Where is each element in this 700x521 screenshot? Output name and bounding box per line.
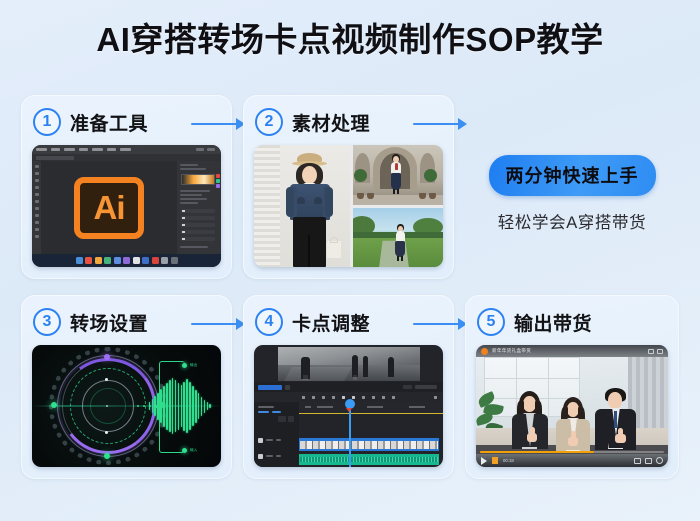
picture-in-picture-icon — [645, 458, 652, 464]
transition-hud-visual: 输出 输入 — [32, 345, 221, 467]
promo-subtitle: 轻松学会A穿搭带货 — [465, 209, 679, 233]
illustrator-toolbar — [32, 161, 41, 254]
illustrator-menubar — [32, 145, 221, 154]
step-label-2: 素材处理 — [292, 109, 370, 136]
fullscreen-icon — [656, 457, 663, 464]
player-right-controls[interactable] — [634, 457, 663, 464]
program-monitor — [278, 347, 420, 381]
step-label-4: 卡点调整 — [292, 309, 370, 336]
settings-icon — [634, 458, 641, 464]
fashion-photo-arch — [353, 145, 443, 205]
share-icon — [648, 349, 654, 354]
illustrator-logo-text: Ai — [94, 191, 125, 224]
illustrator-canvas: Ai — [41, 161, 177, 254]
video-player-preview: 新年年货礼盒带货 — [476, 345, 668, 467]
channel-avatar-icon — [481, 348, 488, 355]
step-card-3-header: 3 转场设置 — [21, 295, 232, 339]
video-timeline-editor — [254, 345, 443, 467]
timeline-app — [254, 345, 443, 467]
playhead[interactable] — [349, 404, 351, 467]
step-card-4-header: 4 卡点调整 — [243, 295, 454, 339]
step-card-5-header: 5 输出带货 — [465, 295, 679, 339]
step-card-2-header: 2 素材处理 — [243, 95, 454, 139]
step-label-3: 转场设置 — [70, 309, 148, 336]
connector-arrow-2 — [413, 118, 469, 130]
step-number-badge-3: 3 — [33, 308, 61, 336]
step-label-5: 输出带货 — [514, 309, 592, 336]
illustrator-document-tab — [32, 154, 221, 161]
page-title: AI穿搭转场卡点视频制作SOP教学 — [0, 22, 700, 58]
connector-arrow-1 — [191, 118, 247, 130]
illustrator-workspace: Ai — [32, 161, 221, 254]
playback-time: 00:18 — [503, 458, 514, 463]
step-card-5[interactable]: 5 输出带货 新年年货礼盒带货 — [465, 295, 679, 479]
more-icon — [657, 349, 663, 354]
hud-graphic: 输出 输入 — [32, 345, 221, 467]
player-top-actions[interactable] — [648, 349, 663, 354]
track-headers — [254, 402, 299, 467]
step-card-1-header: 1 准备工具 — [21, 95, 232, 139]
video-player: 新年年货礼盒带货 — [476, 345, 668, 467]
person-right — [594, 388, 638, 450]
promo-badge: 两分钟快速上手 — [489, 155, 656, 196]
pause-icon[interactable] — [492, 457, 498, 464]
person-middle — [554, 397, 592, 452]
audio-waveform — [149, 378, 211, 434]
step-number-badge-5: 5 — [477, 308, 505, 336]
illustrator-logo: Ai — [74, 177, 144, 239]
hud-tag-bottom: 输入 — [190, 448, 197, 453]
promo-block: 两分钟快速上手 轻松学会A穿搭带货 — [465, 155, 679, 233]
progress-bar[interactable] — [480, 451, 664, 453]
person-left — [510, 391, 550, 449]
illustrator-app-window: Ai — [32, 145, 221, 267]
fashion-photo-lawn — [353, 208, 443, 268]
connector-arrow-3 — [191, 318, 247, 330]
play-icon[interactable] — [481, 457, 487, 465]
os-dock — [32, 254, 221, 267]
audio-track[interactable] — [299, 454, 439, 465]
illustrator-panels — [177, 161, 221, 254]
player-topbar: 新年年货礼盒带货 — [476, 345, 668, 357]
step-label-1: 准备工具 — [70, 109, 148, 136]
fashion-photo-main — [254, 145, 350, 267]
connector-arrow-4 — [413, 318, 469, 330]
gradient-swatch — [181, 174, 215, 185]
fashion-photo-collage — [254, 145, 443, 267]
page-header: AI穿搭转场卡点视频制作SOP教学 — [0, 22, 700, 58]
illustrator-screenshot: Ai — [32, 145, 221, 267]
video-track[interactable] — [299, 438, 439, 451]
player-video-frame — [476, 357, 668, 454]
step-number-badge-2: 2 — [255, 108, 283, 136]
sequence-tab[interactable] — [258, 385, 282, 390]
arrow-right-icon — [458, 118, 467, 130]
step-number-badge-4: 4 — [255, 308, 283, 336]
player-controls[interactable]: 00:18 — [476, 454, 668, 467]
hud-tag-top: 输出 — [190, 363, 197, 368]
player-title: 新年年货礼盒带货 — [492, 348, 531, 354]
step-number-badge-1: 1 — [33, 108, 61, 136]
